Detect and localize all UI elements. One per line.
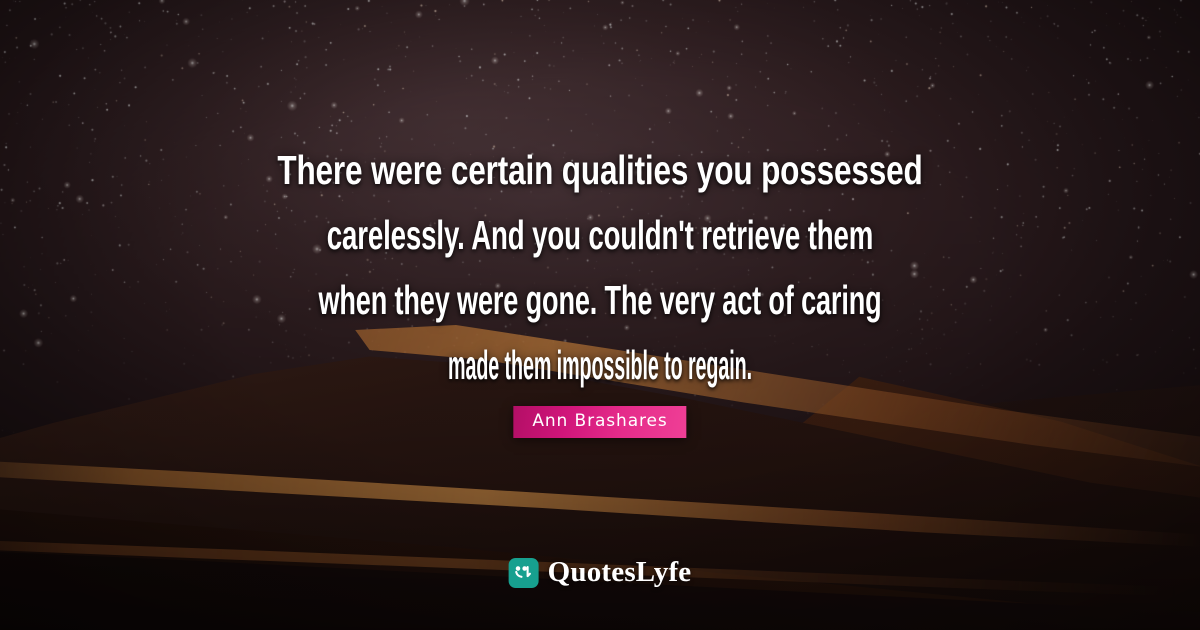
quote-mark-icon — [509, 558, 539, 588]
quote-line-4: made them impossible to regain. — [345, 333, 855, 398]
quote-image-canvas: There were certain qualities you possess… — [0, 0, 1200, 630]
quote-line-3: when they were gone. The very act of car… — [250, 268, 950, 333]
brand-name: QuotesLyfe — [548, 556, 692, 589]
quote-line-1: There were certain qualities you possess… — [192, 138, 1007, 203]
quote-text: There were certain qualities you possess… — [0, 138, 1200, 398]
brand-logo[interactable]: QuotesLyfe — [509, 556, 692, 589]
quote-line-2: carelessly. And you couldn't retrieve th… — [243, 203, 958, 268]
author-badge[interactable]: Ann Brashares — [513, 406, 686, 438]
content-overlay: There were certain qualities you possess… — [0, 0, 1200, 630]
author-name: Ann Brashares — [532, 411, 667, 431]
